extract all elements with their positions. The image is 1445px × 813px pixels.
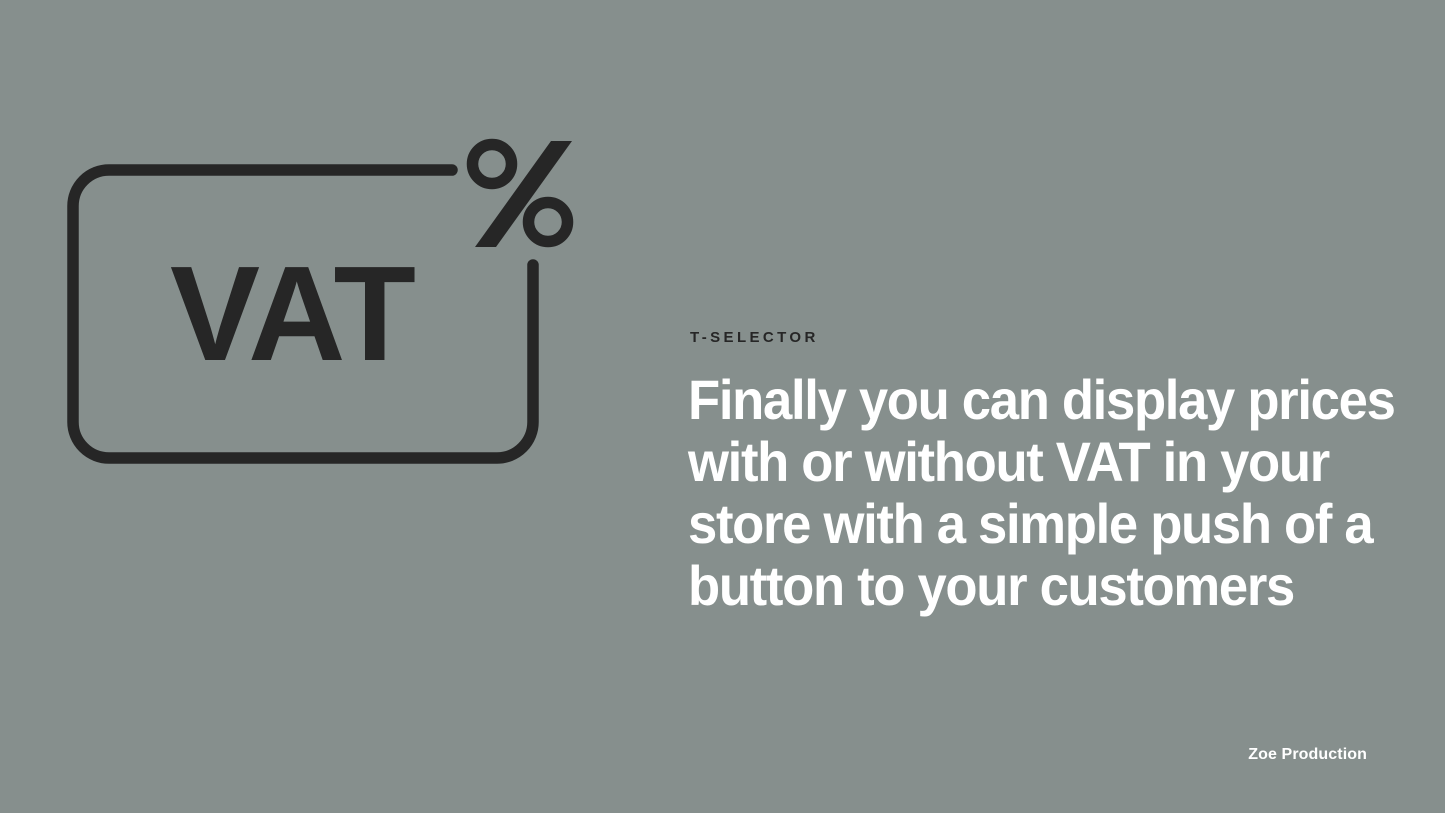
headline-line: with or without VAT in your xyxy=(688,431,1374,493)
logo-wordmark: VAT xyxy=(170,238,415,389)
vat-percent-logo: VAT xyxy=(55,115,595,475)
content-block: T-SELECTOR Finally you can display price… xyxy=(688,330,1418,617)
footer-credit: Zoe Production xyxy=(1248,747,1367,763)
promo-slide: VAT T-SELECTOR Finally you can display p… xyxy=(0,0,1445,813)
headline-line: Finally you can display prices xyxy=(688,369,1374,431)
page-title: Finally you can display prices with or w… xyxy=(688,369,1374,617)
headline-line: store with a simple push of a xyxy=(688,493,1374,555)
headline-line: button to your customers xyxy=(688,555,1374,617)
eyebrow-label: T-SELECTOR xyxy=(690,330,1418,345)
